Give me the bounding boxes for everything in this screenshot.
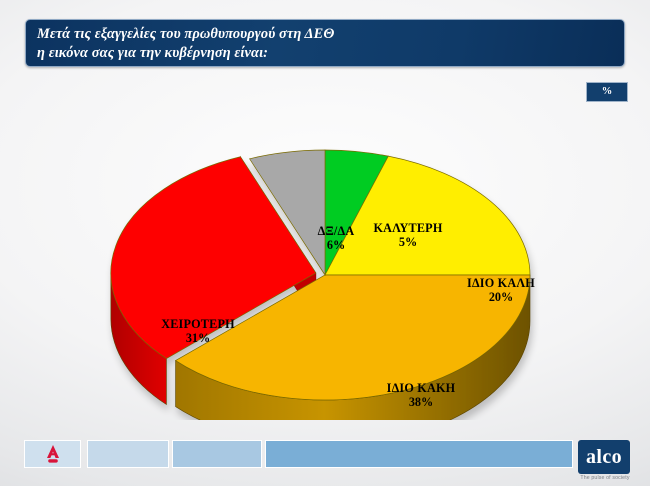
alpha-a-icon [42, 443, 64, 465]
title-bar: Μετά τις εξαγγελίες του πρωθυπουργού στη… [25, 19, 625, 67]
footer-bar-segment-3 [265, 440, 573, 468]
alco-logo: alco [578, 440, 630, 474]
footer-bar: alco The pulse of society [0, 440, 650, 486]
percent-unit-badge: % [586, 82, 628, 102]
pie-chart: ΚΑΛΥΤΕΡΗ 5% ΙΔΙΟ ΚΑΛΗ 20% ΙΔΙΟ ΚΑΚΗ 38% … [55, 100, 595, 420]
alco-tagline: The pulse of society [575, 475, 635, 481]
footer-bar-segment-1 [87, 440, 169, 468]
percent-unit-label: % [602, 87, 613, 98]
footer-bar-segment-2 [172, 440, 262, 468]
title-line-2: η εικόνα σας για την κυβέρνηση είναι: [37, 44, 624, 63]
alco-logo-text: alco [586, 447, 622, 467]
alpha-tv-logo [24, 440, 81, 468]
pie-chart-svg [55, 100, 595, 420]
slide-canvas: Μετά τις εξαγγελίες του πρωθυπουργού στη… [0, 0, 650, 486]
title-line-1: Μετά τις εξαγγελίες του πρωθυπουργού στη… [37, 25, 624, 44]
